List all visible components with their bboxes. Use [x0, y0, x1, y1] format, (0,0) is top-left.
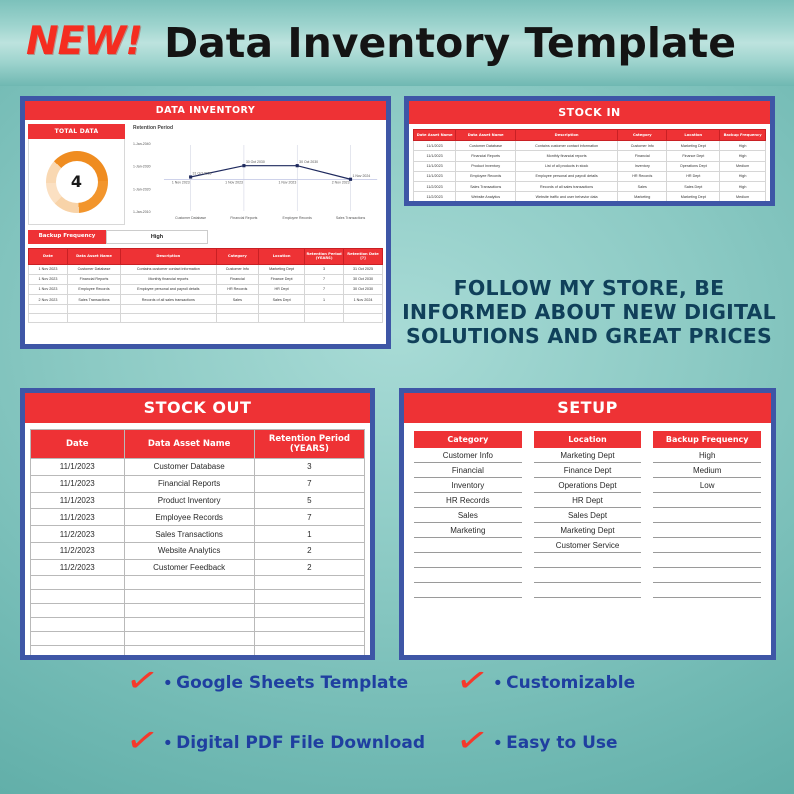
table-row: 11/2/2023Sales TransactionsRecords of al… — [414, 182, 766, 192]
setup-cell[interactable] — [534, 568, 642, 583]
table-cell[interactable]: 7 — [254, 509, 364, 526]
table-cell[interactable]: Sales Dept — [259, 295, 305, 305]
table-cell[interactable] — [121, 314, 217, 323]
table-cell[interactable]: 31 Oct 2025 — [344, 264, 383, 274]
setup-cell[interactable] — [653, 583, 761, 598]
table-cell[interactable]: Marketing Dept — [667, 141, 720, 151]
table-cell[interactable]: 1 — [254, 526, 364, 543]
column-header: Date — [29, 249, 68, 265]
setup-cell[interactable]: Customer Info — [414, 448, 522, 463]
table-row — [29, 305, 383, 314]
table-cell[interactable] — [305, 305, 344, 314]
table-cell[interactable] — [124, 590, 254, 604]
table-cell[interactable]: Employee personal and payroll details — [121, 284, 217, 294]
setup-cell[interactable]: Marketing Dept — [534, 523, 642, 538]
feature-item: ✓•Easy to Use — [458, 728, 688, 758]
table-cell[interactable]: Contains customer contact information — [516, 141, 618, 151]
feature-label: Digital PDF File Download — [176, 733, 425, 753]
table-cell[interactable]: 3 — [254, 459, 364, 476]
check-icon: ✓ — [453, 662, 491, 701]
svg-text:1 Nov 2023: 1 Nov 2023 — [172, 181, 190, 185]
table-cell[interactable] — [216, 305, 258, 314]
svg-text:2 Nov 2023: 2 Nov 2023 — [332, 181, 350, 185]
table-cell[interactable]: 1 Nov 2023 — [29, 284, 68, 294]
table-row: 11/2/2023Website Analytics2 — [31, 542, 365, 559]
table-cell[interactable]: Employee Records — [124, 509, 254, 526]
table-cell[interactable]: HR Dept — [667, 171, 720, 181]
table-cell[interactable]: 11/2/2023 — [31, 542, 125, 559]
promo-line-1: FOLLOW MY STORE, BE — [398, 276, 780, 300]
table-cell[interactable]: Medium — [720, 192, 766, 201]
table-cell[interactable] — [254, 576, 364, 590]
column-header: Retention Period (YEARS) — [254, 430, 364, 459]
table-cell[interactable]: HR Records — [618, 171, 667, 181]
table-cell[interactable]: 5 — [254, 492, 364, 509]
table-cell[interactable] — [124, 618, 254, 632]
svg-text:1-Jan-2010: 1-Jan-2010 — [133, 210, 151, 214]
column-header: Data Asset Name — [124, 430, 254, 459]
table-row: 11/1/2023Financial Reports7 — [31, 475, 365, 492]
table-cell[interactable] — [29, 305, 68, 314]
table-cell[interactable]: 30 Oct 2030 — [344, 274, 383, 284]
check-icon: ✓ — [123, 662, 161, 701]
setup-cell[interactable] — [653, 538, 761, 553]
page-title: Data Inventory Template — [164, 19, 736, 67]
setup-cell[interactable] — [414, 538, 522, 553]
table-header-row: DateData Asset NameRetention Period (YEA… — [31, 430, 365, 459]
column-header: Location — [259, 249, 305, 265]
setup-cell[interactable]: Medium — [653, 463, 761, 478]
table-cell[interactable] — [305, 314, 344, 323]
setup-cell[interactable] — [653, 568, 761, 583]
data-inventory-table: DateData Asset NameDescriptionCategoryLo… — [28, 248, 383, 323]
setup-cell[interactable]: High — [653, 448, 761, 463]
table-cell[interactable]: Sales Dept — [667, 182, 720, 192]
table-cell[interactable]: Customer Info — [216, 264, 258, 274]
setup-panel: SETUP CategoryCustomer InfoFinancialInve… — [399, 388, 776, 660]
table-cell[interactable] — [216, 314, 258, 323]
table-row: 11/1/2023Product Inventory5 — [31, 492, 365, 509]
table-row: 1 Nov 2023Employee RecordsEmployee perso… — [29, 284, 383, 294]
table-row: 11/2/2023Website AnalyticsWebsite traffi… — [414, 192, 766, 201]
table-cell[interactable]: Sales Transactions — [67, 295, 120, 305]
table-cell[interactable] — [31, 646, 125, 655]
stock-out-table: DateData Asset NameRetention Period (YEA… — [30, 429, 365, 655]
stock-in-table-wrap: Date Asset NameData Asset NameDescriptio… — [413, 129, 766, 201]
table-cell[interactable] — [124, 604, 254, 618]
table-cell[interactable]: 2 — [254, 542, 364, 559]
backup-frequency-row: Backup Frequency High — [28, 230, 208, 244]
table-cell[interactable]: 11/1/2023 — [414, 141, 456, 151]
feature-label: Customizable — [506, 673, 635, 693]
donut-chart: 4 — [46, 151, 108, 213]
table-cell[interactable]: 1 Nov 2024 — [344, 295, 383, 305]
table-cell[interactable] — [31, 618, 125, 632]
setup-cell[interactable]: Operations Dept — [534, 478, 642, 493]
table-cell[interactable]: Operations Dept — [667, 161, 720, 171]
svg-text:30 Oct 2030: 30 Oct 2030 — [246, 160, 265, 164]
table-cell[interactable] — [31, 604, 125, 618]
feature-label: Google Sheets Template — [176, 673, 408, 693]
svg-text:Financial Reports: Financial Reports — [230, 216, 257, 220]
setup-cell[interactable]: Sales Dept — [534, 508, 642, 523]
setup-cell[interactable] — [653, 493, 761, 508]
table-cell[interactable]: Product Inventory — [124, 492, 254, 509]
table-cell[interactable]: Marketing Dept — [667, 192, 720, 201]
total-data-card: TOTAL DATA 4 — [28, 124, 125, 229]
svg-text:Customer Database: Customer Database — [175, 216, 206, 220]
setup-cell[interactable]: HR Records — [414, 493, 522, 508]
setup-cell[interactable]: Financial — [414, 463, 522, 478]
promo-text: FOLLOW MY STORE, BE INFORMED ABOUT NEW D… — [398, 276, 780, 349]
table-cell[interactable]: 11/1/2023 — [414, 161, 456, 171]
table-cell[interactable] — [124, 576, 254, 590]
column-header: Location — [667, 130, 720, 141]
table-cell[interactable]: 11/2/2023 — [414, 182, 456, 192]
table-row: 11/1/2023Employee RecordsEmployee person… — [414, 171, 766, 181]
stock-out-title: STOCK OUT — [25, 393, 370, 423]
feature-item: ✓•Google Sheets Template — [128, 668, 458, 698]
table-cell[interactable] — [124, 632, 254, 646]
svg-text:1-Jan-2040: 1-Jan-2040 — [133, 142, 151, 146]
table-row — [31, 618, 365, 632]
table-cell[interactable]: Customer Info — [618, 141, 667, 151]
table-cell[interactable]: Customer Database — [124, 459, 254, 476]
table-cell[interactable]: 1 Nov 2023 — [29, 264, 68, 274]
backup-frequency-label: Backup Frequency — [28, 230, 106, 244]
table-cell[interactable]: 11/1/2023 — [31, 475, 125, 492]
table-cell[interactable]: 7 — [305, 284, 344, 294]
setup-cell[interactable]: HR Dept — [534, 493, 642, 508]
table-cell[interactable]: 11/2/2023 — [414, 192, 456, 201]
setup-cell[interactable]: Marketing Dept — [534, 448, 642, 463]
setup-title: SETUP — [404, 393, 771, 423]
table-cell[interactable]: 7 — [305, 274, 344, 284]
setup-cell[interactable] — [414, 568, 522, 583]
table-cell[interactable]: Financial — [618, 151, 667, 161]
table-cell[interactable] — [344, 314, 383, 323]
table-row: 11/1/2023Customer DatabaseContains custo… — [414, 141, 766, 151]
backup-frequency-value[interactable]: High — [106, 230, 208, 244]
setup-cell[interactable]: Finance Dept — [534, 463, 642, 478]
setup-column-header: Category — [414, 431, 522, 448]
table-cell[interactable]: Sales — [618, 182, 667, 192]
table-cell[interactable] — [254, 632, 364, 646]
bullet-icon: • — [495, 734, 502, 753]
table-cell[interactable]: 11/2/2023 — [31, 526, 125, 543]
table-cell[interactable] — [254, 590, 364, 604]
table-cell[interactable]: Marketing Dept — [259, 264, 305, 274]
svg-text:1 Nov 2023: 1 Nov 2023 — [225, 181, 243, 185]
table-cell[interactable] — [344, 305, 383, 314]
table-cell[interactable]: 30 Oct 2030 — [344, 284, 383, 294]
table-row: 1 Nov 2023Financial ReportsMonthly finan… — [29, 274, 383, 284]
check-icon: ✓ — [123, 722, 161, 761]
table-header-row: DateData Asset NameDescriptionCategoryLo… — [29, 249, 383, 265]
table-row — [31, 604, 365, 618]
column-header: Description — [121, 249, 217, 265]
bullet-icon: • — [165, 674, 172, 693]
table-cell[interactable]: 11/1/2023 — [414, 151, 456, 161]
table-cell[interactable]: Financial — [216, 274, 258, 284]
table-cell[interactable]: 11/1/2023 — [31, 492, 125, 509]
setup-cell[interactable]: Marketing — [414, 523, 522, 538]
table-cell[interactable]: Financial Reports — [124, 475, 254, 492]
table-cell[interactable]: 11/1/2023 — [31, 459, 125, 476]
table-row — [31, 576, 365, 590]
table-cell[interactable]: Customer Feedback — [124, 559, 254, 576]
total-data-donut-box: 4 — [28, 139, 125, 225]
table-cell[interactable]: Employee Records — [456, 171, 516, 181]
table-cell[interactable]: HR Records — [216, 284, 258, 294]
data-inventory-title: DATA INVENTORY — [25, 101, 386, 120]
table-cell[interactable]: High — [720, 141, 766, 151]
column-header: Backup Frequency — [720, 130, 766, 141]
column-header: Category — [216, 249, 258, 265]
table-row: 11/1/2023Employee Records7 — [31, 509, 365, 526]
svg-text:31 Oct 2025: 31 Oct 2025 — [193, 171, 212, 175]
table-cell[interactable] — [259, 305, 305, 314]
table-row: 1 Nov 2023Customer DatabaseContains cust… — [29, 264, 383, 274]
setup-cell[interactable] — [653, 553, 761, 568]
table-cell[interactable]: High — [720, 182, 766, 192]
table-cell[interactable]: Records of all sales transactions — [516, 182, 618, 192]
table-cell[interactable]: High — [720, 151, 766, 161]
table-cell[interactable]: Finance Dept — [259, 274, 305, 284]
header-banner: NEW! Data Inventory Template — [0, 0, 794, 86]
table-cell[interactable] — [29, 314, 68, 323]
table-cell[interactable]: Employee Records — [67, 284, 120, 294]
bullet-icon: • — [495, 674, 502, 693]
column-header: Date — [31, 430, 125, 459]
column-header: Data Asset Name — [456, 130, 516, 141]
total-data-label: TOTAL DATA — [28, 124, 125, 139]
table-cell[interactable]: 3 — [305, 264, 344, 274]
table-cell[interactable]: 7 — [254, 475, 364, 492]
column-header: Retention Date [?] — [344, 249, 383, 265]
table-cell[interactable] — [124, 646, 254, 655]
setup-column-header: Backup Frequency — [653, 431, 761, 448]
table-cell[interactable]: 11/2/2023 — [31, 559, 125, 576]
promo-line-2: INFORMED ABOUT NEW DIGITAL — [398, 300, 780, 324]
table-cell[interactable] — [254, 646, 364, 655]
data-inventory-table-wrap: DateData Asset NameDescriptionCategoryLo… — [28, 248, 383, 323]
table-cell[interactable]: Website Analytics — [456, 192, 516, 201]
table-cell[interactable] — [254, 618, 364, 632]
svg-text:30 Oct 2030: 30 Oct 2030 — [299, 160, 318, 164]
column-header: Date Asset Name — [414, 130, 456, 141]
table-cell[interactable]: Product Inventory — [456, 161, 516, 171]
svg-text:1 Nov 2023: 1 Nov 2023 — [278, 181, 296, 185]
new-badge: NEW! — [26, 19, 142, 64]
feature-label: Easy to Use — [506, 733, 617, 753]
table-cell[interactable]: Finance Dept — [667, 151, 720, 161]
column-header: Category — [618, 130, 667, 141]
setup-cell[interactable] — [534, 553, 642, 568]
table-cell[interactable] — [254, 604, 364, 618]
table-row — [31, 632, 365, 646]
stock-in-panel: STOCK IN Date Asset NameData Asset NameD… — [404, 96, 775, 206]
table-row: 11/2/2023Sales Transactions1 — [31, 526, 365, 543]
table-row: 11/2/2023Customer Feedback2 — [31, 559, 365, 576]
stock-in-title: STOCK IN — [409, 101, 770, 124]
svg-text:1-Jan-2020: 1-Jan-2020 — [133, 187, 151, 191]
table-cell[interactable]: 11/1/2023 — [414, 171, 456, 181]
setup-column: LocationMarketing DeptFinance DeptOperat… — [534, 431, 642, 598]
column-header: Retention Period (YEARS) — [305, 249, 344, 265]
table-row: 11/1/2023Product InventoryList of all pr… — [414, 161, 766, 171]
table-cell[interactable]: Inventory — [618, 161, 667, 171]
table-cell[interactable]: Customer Database — [67, 264, 120, 274]
check-icon: ✓ — [453, 722, 491, 761]
table-cell[interactable] — [31, 632, 125, 646]
table-cell[interactable]: Records of all sales transactions — [121, 295, 217, 305]
table-row: 11/1/2023Financial ReportsMonthly financ… — [414, 151, 766, 161]
table-cell[interactable] — [259, 314, 305, 323]
setup-cell[interactable]: Sales — [414, 508, 522, 523]
table-cell[interactable]: High — [720, 171, 766, 181]
table-cell[interactable]: Employee personal and payroll details — [516, 171, 618, 181]
table-cell[interactable]: Customer Database — [456, 141, 516, 151]
table-row — [29, 314, 383, 323]
setup-cell[interactable]: Inventory — [414, 478, 522, 493]
setup-cell[interactable]: Customer Service — [534, 538, 642, 553]
column-header: Data Asset Name — [67, 249, 120, 265]
features-list: ✓•Google Sheets Template✓•Customizable✓•… — [128, 668, 688, 758]
retention-period-chart: Retention Period 1-Jan-20401-Jan-20301-J… — [131, 124, 383, 229]
feature-item: ✓•Digital PDF File Download — [128, 728, 458, 758]
setup-cell[interactable] — [653, 523, 761, 538]
table-cell[interactable]: 1 Nov 2023 — [29, 274, 68, 284]
table-cell[interactable]: 2 Nov 2023 — [29, 295, 68, 305]
table-cell[interactable]: 1 — [305, 295, 344, 305]
setup-cell[interactable]: Low — [653, 478, 761, 493]
table-row — [31, 590, 365, 604]
table-row: 2 Nov 2023Sales TransactionsRecords of a… — [29, 295, 383, 305]
stock-in-table: Date Asset NameData Asset NameDescriptio… — [413, 129, 766, 201]
table-cell[interactable]: Marketing — [618, 192, 667, 201]
table-cell[interactable]: List of all products in stock — [516, 161, 618, 171]
column-header: Description — [516, 130, 618, 141]
table-cell[interactable]: Sales — [216, 295, 258, 305]
table-cell[interactable]: Monthly financial reports — [121, 274, 217, 284]
table-row: 11/1/2023Customer Database3 — [31, 459, 365, 476]
table-row — [31, 646, 365, 655]
svg-text:1 Nov 2024: 1 Nov 2024 — [352, 174, 370, 178]
bullet-icon: • — [165, 734, 172, 753]
setup-column-header: Location — [534, 431, 642, 448]
table-cell[interactable]: Website Analytics — [124, 542, 254, 559]
table-cell[interactable]: Sales Transactions — [124, 526, 254, 543]
table-cell[interactable]: 2 — [254, 559, 364, 576]
data-inventory-panel: DATA INVENTORY TOTAL DATA 4 Retention Pe… — [20, 96, 391, 349]
table-cell[interactable]: Medium — [720, 161, 766, 171]
table-cell[interactable]: 11/1/2023 — [31, 509, 125, 526]
table-cell[interactable] — [67, 305, 120, 314]
chart-svg: 1-Jan-20401-Jan-20301-Jan-20201-Jan-2010… — [131, 131, 383, 231]
svg-text:Sales Transactions: Sales Transactions — [336, 216, 366, 220]
table-cell[interactable]: Website traffic and user behavior data — [516, 192, 618, 201]
table-cell[interactable]: HR Dept — [259, 284, 305, 294]
table-header-row: Date Asset NameData Asset NameDescriptio… — [414, 130, 766, 141]
table-cell[interactable] — [67, 314, 120, 323]
setup-cell[interactable] — [414, 583, 522, 598]
setup-column: CategoryCustomer InfoFinancialInventoryH… — [414, 431, 522, 598]
table-cell[interactable]: Sales Transactions — [456, 182, 516, 192]
svg-text:Employee Records: Employee Records — [283, 216, 313, 220]
setup-columns: CategoryCustomer InfoFinancialInventoryH… — [404, 423, 771, 598]
table-cell[interactable]: Financial Reports — [67, 274, 120, 284]
promo-line-3: SOLUTIONS AND GREAT PRICES — [398, 324, 780, 348]
table-cell[interactable]: Contains customer contact information — [121, 264, 217, 274]
svg-text:1-Jan-2030: 1-Jan-2030 — [133, 165, 151, 169]
table-cell[interactable]: Monthly financial reports — [516, 151, 618, 161]
setup-column: Backup FrequencyHighMediumLow — [653, 431, 761, 598]
stock-out-panel: STOCK OUT DateData Asset NameRetention P… — [20, 388, 375, 660]
table-cell[interactable] — [121, 305, 217, 314]
feature-item: ✓•Customizable — [458, 668, 688, 698]
table-cell[interactable] — [31, 576, 125, 590]
setup-cell[interactable] — [653, 508, 761, 523]
table-cell[interactable] — [31, 590, 125, 604]
total-data-value: 4 — [46, 151, 108, 213]
table-cell[interactable]: Financial Reports — [456, 151, 516, 161]
setup-cell[interactable] — [414, 553, 522, 568]
setup-cell[interactable] — [534, 583, 642, 598]
